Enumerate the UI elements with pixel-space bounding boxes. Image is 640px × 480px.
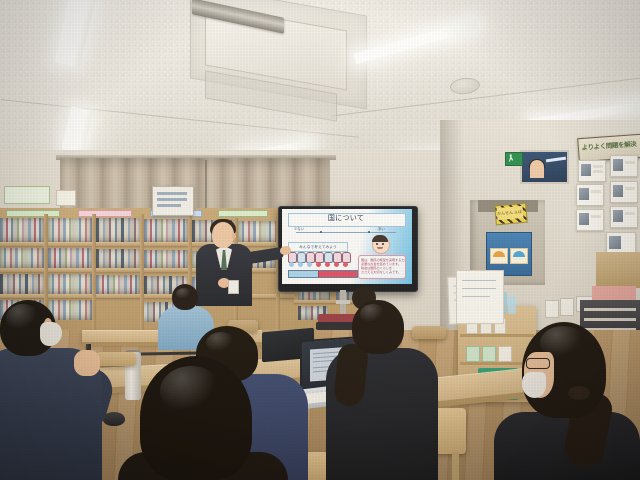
poster-text-block [591, 190, 601, 193]
face-mask [522, 372, 546, 398]
poster-text-block [625, 187, 635, 190]
slide-dot [298, 262, 303, 267]
caution-sign-text: かんせん よぼう [497, 206, 524, 220]
shelf-divider [92, 214, 96, 332]
poster-photo [613, 210, 623, 222]
sign-line [157, 198, 187, 201]
curtain-cord [205, 160, 207, 215]
wall-poster [610, 181, 638, 203]
shelf-label [6, 210, 60, 217]
books-row [96, 249, 140, 268]
slide-title: 国について [288, 213, 404, 225]
window-figure [530, 160, 544, 178]
chair-backrest[interactable] [96, 352, 136, 366]
slide-dot [343, 262, 348, 267]
slide-dot [316, 262, 321, 267]
books-row [0, 248, 44, 268]
sign-line [157, 192, 187, 195]
slide-axis-dot [368, 231, 370, 233]
wall-poster [56, 190, 76, 206]
supply-cup [482, 346, 496, 362]
cabinet-card-arc-icon [493, 251, 505, 257]
hair-highlight [160, 366, 222, 416]
wall-poster [610, 155, 638, 177]
poster-text-block [593, 165, 603, 168]
poster-text-block [593, 170, 603, 173]
hair-highlight [360, 304, 386, 324]
wall-poster [576, 184, 604, 206]
board-line [462, 288, 496, 289]
books-row [48, 274, 92, 294]
slide-dot [325, 262, 330, 267]
supply-cup [498, 346, 512, 362]
poster-photo [609, 236, 621, 249]
shelf-board [460, 334, 534, 337]
eyeglasses [526, 358, 550, 369]
slide-axis-line [296, 232, 396, 233]
books-row [48, 218, 92, 242]
slide-dot [334, 262, 339, 267]
shelf-label [78, 210, 132, 217]
poster-photo [579, 213, 589, 225]
poster-photo [613, 185, 623, 197]
hair-highlight [6, 304, 40, 332]
speech-bubble-line: ささえる大切なしくみです。 [361, 270, 403, 274]
paper-stack [592, 286, 636, 300]
slide-dot [307, 262, 312, 267]
cabinet-card [510, 248, 528, 264]
slide-axis-left-label: 少ない [294, 226, 304, 231]
board-line [462, 280, 496, 281]
slide-character-eye [382, 243, 384, 245]
poster-photo [581, 164, 591, 176]
rack-slot [584, 318, 636, 321]
poster-text-block [625, 161, 635, 164]
slide-person-icon-row [288, 252, 356, 261]
exit-sign [505, 152, 523, 166]
rack-slot [584, 308, 636, 311]
poster-photo [613, 159, 623, 171]
shelf-label [218, 210, 268, 217]
books-row [0, 218, 44, 242]
display-stand-bracket [336, 300, 350, 304]
hair-highlight [206, 332, 236, 354]
books-row [48, 248, 92, 268]
presenter-name-badge [228, 280, 239, 294]
hand-sanitizer-bottle [508, 296, 516, 314]
poster-photo [579, 188, 589, 200]
presentation-board [456, 270, 504, 324]
slide-speech-bubble: 国は、国民の希望を実現するために 必要なお金を集めています。 税金は国民のくらし… [358, 255, 406, 279]
shelf-information-sign [152, 186, 194, 216]
cabinet-card-arc-icon [513, 251, 525, 257]
computer-mouse[interactable] [103, 412, 125, 426]
slide-dot-row [288, 262, 356, 268]
poster-text-block [591, 215, 601, 218]
wall-poster [4, 186, 50, 204]
cabinet-card [490, 248, 508, 264]
wall-poster [610, 206, 638, 228]
board-line [462, 296, 490, 297]
shelf-divider [140, 214, 144, 332]
books-row [238, 221, 280, 242]
slide-bar-outline [288, 270, 358, 278]
slide-axis-dot [320, 231, 322, 233]
books-row [144, 219, 188, 242]
presenter-ear [232, 233, 236, 239]
light-switch-plate[interactable] [545, 300, 559, 318]
books-row [96, 218, 140, 242]
slide-axis-right-label: 多い [378, 226, 385, 231]
supply-cup [466, 346, 480, 362]
wall-poster [578, 160, 606, 182]
chair-leg [452, 452, 459, 480]
presenter-head [212, 222, 234, 248]
hair-highlight [176, 288, 192, 300]
slide-dot [289, 262, 294, 267]
books-row [144, 250, 188, 268]
storage-box [596, 252, 640, 288]
sign-line [157, 204, 181, 207]
slide-character-eye [376, 243, 378, 245]
books-row [48, 300, 92, 320]
slide-subtitle: みんなで考えてみよう [288, 242, 348, 252]
books-row [0, 274, 44, 294]
light-switch-plate[interactable] [560, 298, 574, 316]
poster-text-block [625, 212, 635, 215]
hair-tie [568, 386, 590, 400]
classroom-photo-scene: よりよく問題を解決 かんせん よぼう [0, 0, 640, 480]
books-row [96, 275, 140, 294]
slide-character-hair [372, 235, 388, 242]
chair-backrest[interactable] [412, 326, 446, 339]
audience-member-hand [74, 350, 100, 376]
wall-poster [576, 209, 604, 231]
